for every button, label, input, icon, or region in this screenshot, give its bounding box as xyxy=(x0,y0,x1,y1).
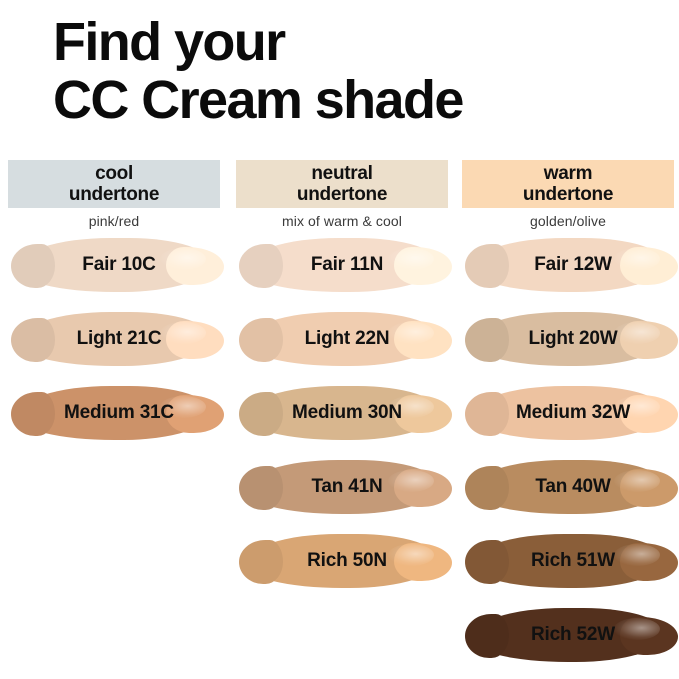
shade-label: Medium 31C xyxy=(16,402,212,424)
shade-swatch[interactable]: Rich 51W xyxy=(470,530,666,592)
shade-swatch[interactable]: Fair 10C xyxy=(16,234,212,296)
shade-swatch[interactable]: Fair 12W xyxy=(470,234,666,296)
shade-label: Medium 32W xyxy=(470,402,666,424)
column-header-warm-line-1: warm xyxy=(523,163,613,184)
shade-swatch[interactable]: Fair 11N xyxy=(244,234,440,296)
shade-swatch[interactable]: Light 21C xyxy=(16,308,212,370)
column-header-cool: cool undertone xyxy=(8,160,220,208)
column-header-cool-line-1: cool xyxy=(69,163,159,184)
column-header-warm: warm undertone xyxy=(462,160,674,208)
column-header-warm-line-2: undertone xyxy=(523,184,613,205)
shade-swatch[interactable]: Rich 52W xyxy=(470,604,666,666)
column-subtitle-neutral: mix of warm & cool xyxy=(236,208,448,234)
shade-label: Fair 10C xyxy=(16,254,212,276)
shade-swatch[interactable]: Tan 41N xyxy=(244,456,440,518)
shade-label: Rich 50N xyxy=(244,550,440,572)
shade-label: Fair 11N xyxy=(244,254,440,276)
page-title-line-2: CC Cream shade xyxy=(53,71,653,129)
shade-label: Fair 12W xyxy=(470,254,666,276)
swatch-stack-cool: Fair 10C Light 21C Medium 31C xyxy=(8,234,220,444)
column-subtitle-warm: golden/olive xyxy=(462,208,674,234)
swatch-stack-neutral: Fair 11N Light 22N Medium 30N Tan 41N Ri xyxy=(236,234,448,592)
column-header-neutral-line-2: undertone xyxy=(297,184,387,205)
shade-swatch[interactable]: Rich 50N xyxy=(244,530,440,592)
shade-swatch[interactable]: Light 20W xyxy=(470,308,666,370)
undertone-column-neutral: neutral undertone mix of warm & cool Fai… xyxy=(236,160,448,604)
shade-label: Light 20W xyxy=(470,328,666,350)
shade-swatch[interactable]: Light 22N xyxy=(244,308,440,370)
shade-label: Medium 30N xyxy=(244,402,440,424)
shade-label: Tan 41N xyxy=(244,476,440,498)
shade-label: Rich 51W xyxy=(470,550,666,572)
page-title: Find your CC Cream shade xyxy=(53,13,653,129)
shade-label: Rich 52W xyxy=(470,624,666,646)
undertone-column-warm: warm undertone golden/olive Fair 12W Lig… xyxy=(462,160,674,678)
page-title-line-1: Find your xyxy=(53,13,653,71)
column-subtitle-cool: pink/red xyxy=(8,208,220,234)
shade-label: Tan 40W xyxy=(470,476,666,498)
column-header-cool-line-2: undertone xyxy=(69,184,159,205)
column-header-neutral-line-1: neutral xyxy=(297,163,387,184)
shade-swatch[interactable]: Tan 40W xyxy=(470,456,666,518)
shade-swatch[interactable]: Medium 31C xyxy=(16,382,212,444)
swatch-stack-warm: Fair 12W Light 20W Medium 32W Tan 40W Ri xyxy=(462,234,674,666)
column-header-neutral-text: neutral undertone xyxy=(297,163,387,205)
undertone-column-cool: cool undertone pink/red Fair 10C Light 2… xyxy=(8,160,220,456)
shade-swatch[interactable]: Medium 32W xyxy=(470,382,666,444)
column-header-warm-text: warm undertone xyxy=(523,163,613,205)
column-header-neutral: neutral undertone xyxy=(236,160,448,208)
shade-label: Light 21C xyxy=(16,328,212,350)
column-header-cool-text: cool undertone xyxy=(69,163,159,205)
shade-swatch[interactable]: Medium 30N xyxy=(244,382,440,444)
shade-label: Light 22N xyxy=(244,328,440,350)
shade-finder-page: Find your CC Cream shade cool undertone … xyxy=(0,0,679,679)
